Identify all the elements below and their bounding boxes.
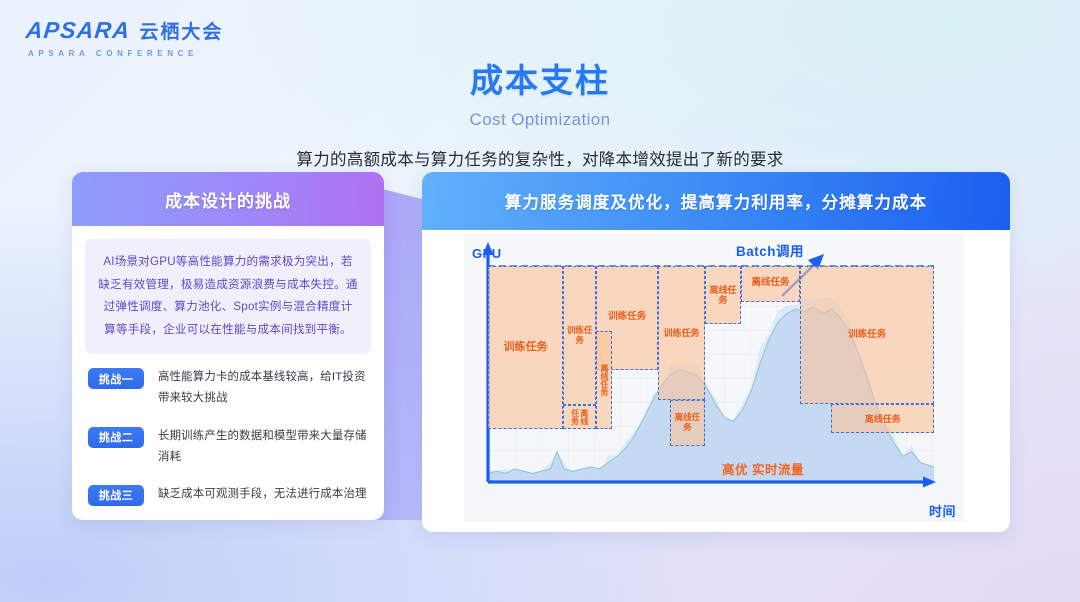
solution-card-title: 算力服务调度及优化，提高算力利用率，分摊算力成本 xyxy=(505,189,927,213)
workload-block: 离线任务 xyxy=(670,400,706,446)
challenge-badge: 挑战二 xyxy=(88,427,144,448)
challenge-text: 缺乏成本可观测手段，无法进行成本治理 xyxy=(158,484,367,505)
batch-call-annotation: Batch调用 xyxy=(736,240,804,260)
logo-brand-cn: 云栖大会 xyxy=(139,17,223,44)
solution-card-header: 算力服务调度及优化，提高算力利用率，分摊算力成本 xyxy=(422,172,1010,230)
workload-block: 离线任务 xyxy=(596,331,612,429)
page-title-en: Cost Optimization xyxy=(0,110,1080,130)
gpu-utilization-chart: 训练任务训练任务离线任务训练任务离线任务训练任务离线任务离线任务离线任务训练任务… xyxy=(464,234,964,522)
y-axis-label: GPU xyxy=(472,246,502,261)
challenge-row: 挑战一高性能算力卡的成本基线较高，给IT投资带来较大挑战 xyxy=(88,367,370,409)
challenge-text: 长期训练产生的数据和模型带来大量存储消耗 xyxy=(158,426,370,468)
workload-block: 训练任务 xyxy=(658,266,705,400)
challenges-description: AI场景对GPU等高性能算力的需求极为突出，若缺乏有效管理，极易造成资源浪费与成… xyxy=(85,239,371,354)
solution-card: 算力服务调度及优化，提高算力利用率，分摊算力成本 xyxy=(422,172,1010,532)
challenges-card-header: 成本设计的挑战 xyxy=(72,172,384,226)
page-title-block: 成本支柱 Cost Optimization 算力的高额成本与算力任务的复杂性，… xyxy=(0,54,1080,170)
workload-block: 离线任务 xyxy=(831,404,934,433)
challenges-list: 挑战一高性能算力卡的成本基线较高，给IT投资带来较大挑战挑战二长期训练产生的数据… xyxy=(88,367,370,505)
workload-block: 训练任务 xyxy=(800,266,934,404)
logo-brand-text: APSARA xyxy=(25,17,132,44)
workload-block: 离线任务 xyxy=(563,405,596,429)
challenge-badge: 挑战一 xyxy=(88,368,144,389)
challenge-row: 挑战三缺乏成本可观测手段，无法进行成本治理 xyxy=(88,484,370,506)
logo-main-row: APSARA 云栖大会 xyxy=(26,17,223,44)
challenge-row: 挑战二长期训练产生的数据和模型带来大量存储消耗 xyxy=(88,426,370,468)
workload-block: 训练任务 xyxy=(563,266,596,405)
challenge-badge: 挑战三 xyxy=(88,485,144,506)
apsara-logo: APSARA 云栖大会 APSARA CONFERENCE xyxy=(26,17,223,58)
challenges-card-title: 成本设计的挑战 xyxy=(165,187,291,212)
x-axis-label: 时间 xyxy=(929,501,956,520)
page-subtitle: 算力的高额成本与算力任务的复杂性，对降本增效提出了新的要求 xyxy=(0,146,1080,170)
workload-block: 离线任务 xyxy=(741,266,800,302)
realtime-traffic-annotation: 高优 实时流量 xyxy=(722,459,804,478)
workload-block: 离线任务 xyxy=(705,266,741,324)
workload-block: 训练任务 xyxy=(488,266,563,429)
page-title: 成本支柱 xyxy=(0,54,1080,102)
challenges-card: 成本设计的挑战 AI场景对GPU等高性能算力的需求极为突出，若缺乏有效管理，极易… xyxy=(72,172,384,520)
challenge-text: 高性能算力卡的成本基线较高，给IT投资带来较大挑战 xyxy=(158,367,370,409)
